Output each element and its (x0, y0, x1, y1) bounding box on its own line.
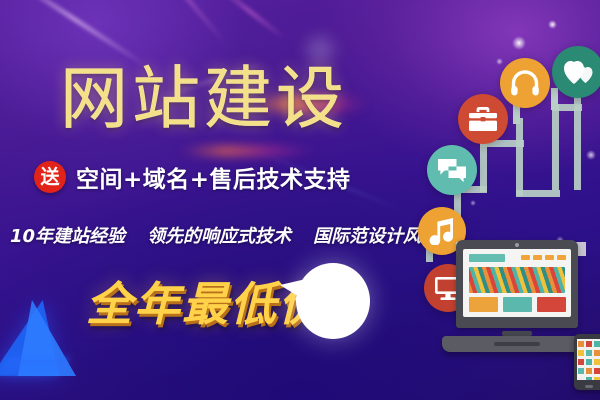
briefcase-icon (458, 94, 508, 144)
gift-badge: 送 (34, 161, 66, 193)
speech-bubble (296, 263, 370, 339)
page-title: 网站建设 (60, 66, 348, 134)
bubble-stem (551, 88, 558, 110)
phone-screen (577, 339, 600, 380)
price-slogan: 全年最低价 (86, 268, 326, 334)
smartphone-mockup (574, 334, 600, 390)
laptop-screen (463, 249, 571, 317)
tagline-text: 空间+域名+售后技术支持 (76, 160, 351, 194)
circuit-trace (480, 140, 487, 192)
hearts-icon (552, 46, 600, 98)
copy-block: 网站建设 送 空间+域名+售后技术支持 10年建站经验 领先的响应式技术 国际范… (0, 0, 400, 400)
feature-item-1: 10年建站经验 (10, 222, 125, 248)
feature-item-2: 领先的响应式技术 (147, 222, 291, 248)
circuit-trace (516, 118, 523, 196)
circuit-trace (516, 190, 560, 197)
tagline-row: 送 空间+域名+售后技术支持 (34, 160, 351, 194)
tech-graphic (370, 0, 600, 400)
headphones-icon (500, 58, 550, 108)
promo-banner: 网站建设 送 空间+域名+售后技术支持 10年建站经验 领先的响应式技术 国际范… (0, 0, 600, 400)
chat-icon (427, 145, 477, 195)
circuit-trace (552, 104, 559, 190)
laptop-mockup (442, 240, 592, 358)
